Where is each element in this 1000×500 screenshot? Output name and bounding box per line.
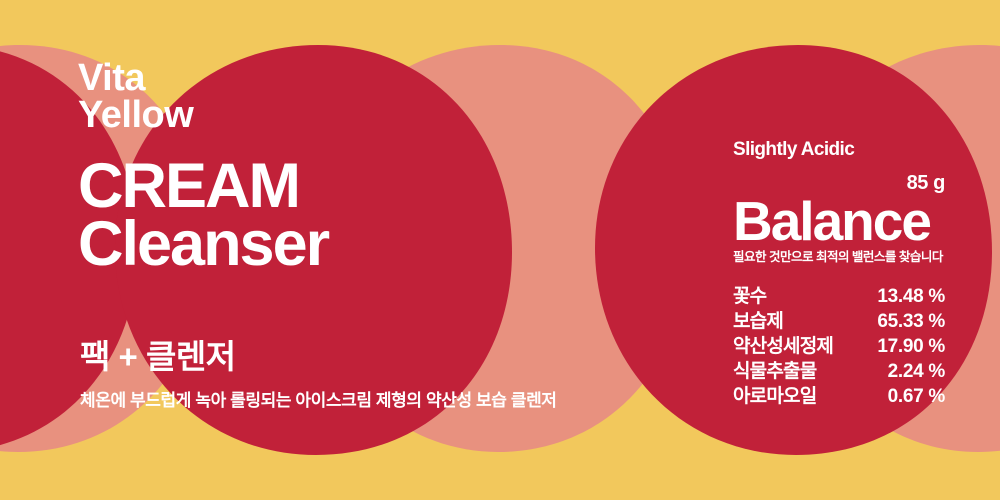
ingredient-list: 꽃수13.48 %보습제65.33 %약산성세정제17.90 %식물추출물2.2… <box>733 281 945 406</box>
korean-product-subtitle: 체온에 부드럽게 녹아 롤링되는 아이스크림 제형의 약산성 보습 클렌저 <box>80 386 557 411</box>
korean-product-title: 팩 + 클렌저 <box>80 330 236 378</box>
right-info-panel: Slightly Acidic 85 g Balance 필요한 것만으로 최적… <box>733 140 945 406</box>
acidity-label: Slightly Acidic <box>733 140 945 159</box>
ingredient-name: 아로마오일 <box>733 381 816 408</box>
ingredient-row: 꽃수13.48 % <box>733 281 945 306</box>
ingredient-value: 0.67 % <box>888 386 945 408</box>
ingredient-value: 65.33 % <box>877 311 945 333</box>
ingredient-row: 약산성세정제17.90 % <box>733 331 945 356</box>
ingredient-value: 17.90 % <box>877 336 945 358</box>
balance-title: Balance <box>733 195 945 247</box>
product-label-artwork: Vita Yellow CREAM Cleanser 팩 + 클렌저 체온에 부… <box>0 0 1000 500</box>
ingredient-row: 아로마오일0.67 % <box>733 381 945 406</box>
ingredient-name: 꽃수 <box>733 281 766 308</box>
ingredient-name: 보습제 <box>733 306 783 333</box>
left-copy-block: Vita Yellow CREAM Cleanser <box>78 60 638 274</box>
ingredient-name: 식물추출물 <box>733 356 816 383</box>
product-headline: CREAM Cleanser <box>78 158 638 274</box>
ingredient-value: 2.24 % <box>888 361 945 383</box>
ingredient-value: 13.48 % <box>877 286 945 308</box>
balance-subtitle: 필요한 것만으로 최적의 밸런스를 찾습니다 <box>733 251 945 264</box>
brand-eyebrow: Vita Yellow <box>78 60 638 134</box>
ingredient-row: 식물추출물2.24 % <box>733 356 945 381</box>
ingredient-name: 약산성세정제 <box>733 331 833 358</box>
ingredient-row: 보습제65.33 % <box>733 306 945 331</box>
